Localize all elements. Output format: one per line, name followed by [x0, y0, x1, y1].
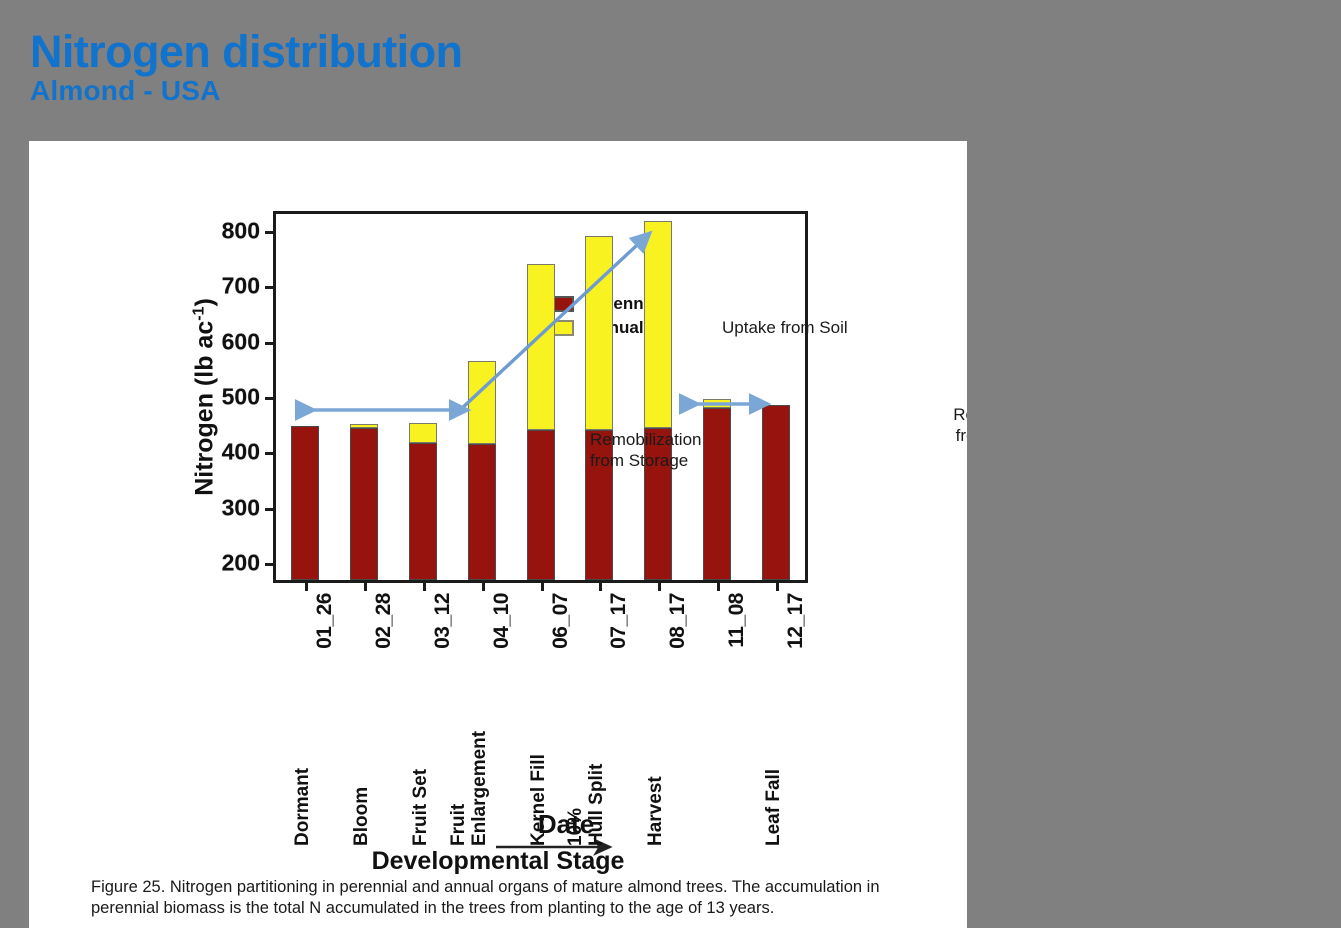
y-axis-tick-label: 800 [222, 217, 260, 244]
annotation-line-3: Storage [945, 446, 967, 467]
y-axis-tick-label: 300 [222, 494, 260, 521]
bar-segment-perennial[interactable] [762, 405, 790, 580]
developmental-stage-label: Leaf Fall [763, 769, 784, 846]
x-axis-tick [482, 580, 485, 591]
x-axis-tick-label: 06_07 [549, 593, 573, 649]
bar-group[interactable] [703, 399, 731, 580]
bar-segment-annual[interactable] [703, 399, 731, 408]
bar-segment-annual[interactable] [468, 361, 496, 444]
bar-segment-annual[interactable] [409, 423, 437, 443]
page-subtitle: Almond - USA [30, 75, 462, 107]
y-axis-tick-label: 500 [222, 384, 260, 411]
x-axis-tick-label: 12_17 [784, 593, 808, 649]
y-axis-title-exponent: -1 [190, 307, 207, 321]
bar-segment-perennial[interactable] [409, 443, 437, 580]
x-axis-tick [423, 580, 426, 591]
annotation-line-2: from Storage [590, 450, 702, 471]
bar-segment-perennial[interactable] [350, 428, 378, 581]
y-axis-tick [265, 508, 276, 511]
bar-segment-annual[interactable] [350, 424, 378, 428]
y-axis-title-main: Nitrogen (lb ac [191, 321, 219, 496]
x-axis-title: Developmental Stage [29, 847, 967, 876]
developmental-stage-label: Harvest [645, 776, 666, 846]
y-axis-tick [265, 397, 276, 400]
bar-segment-perennial[interactable] [703, 408, 731, 580]
bar-group[interactable] [527, 264, 555, 580]
developmental-stage-label: Fruit Set [410, 769, 431, 846]
y-axis-title: Nitrogen (lb ac-1) [190, 298, 219, 496]
annotation-remobilization-from-storage: Remobilization from Storage [590, 429, 702, 471]
bar-group[interactable] [409, 423, 437, 580]
slide-header: Nitrogen distribution Almond - USA [30, 28, 462, 107]
y-axis-tick [265, 342, 276, 345]
bar-segment-annual[interactable] [585, 236, 613, 430]
bar-group[interactable] [291, 426, 319, 580]
x-axis-tick-label: 01_26 [313, 593, 337, 649]
y-axis-tick [265, 563, 276, 566]
developmental-stage-label: Fruit Enlargement [448, 731, 490, 846]
plot-frame: Perennial Annual 200300400500600700800 U… [273, 211, 808, 583]
x-axis-tick [776, 580, 779, 591]
y-axis-tick [265, 452, 276, 455]
x-axis-tick-label: 02_28 [372, 593, 396, 649]
developmental-stage-label: Kernel Fill [528, 754, 549, 846]
developmental-stage-label: Dormant [292, 768, 313, 846]
bar-group[interactable] [644, 221, 672, 580]
bar-segment-annual[interactable] [527, 264, 555, 430]
y-axis-tick-label: 400 [222, 439, 260, 466]
x-axis-tick-label: 07_17 [607, 593, 631, 649]
page-title: Nitrogen distribution [30, 28, 462, 76]
bar-group[interactable] [350, 424, 378, 580]
x-axis-tick [599, 580, 602, 591]
x-axis-tick-label: 08_17 [666, 593, 690, 649]
chart-area: Nitrogen (lb ac-1) Perennial Annual 2003… [29, 141, 967, 661]
x-axis-tick [305, 580, 308, 591]
bar-segment-perennial[interactable] [291, 426, 319, 580]
annotation-line-2: from leaves to [945, 425, 967, 446]
x-axis-tick-label: 11_08 [725, 593, 749, 648]
x-axis-tick [658, 580, 661, 591]
y-axis-tick [265, 286, 276, 289]
annotation-uptake-from-soil: Uptake from Soil [722, 317, 848, 338]
bar-segment-annual[interactable] [644, 221, 672, 428]
x-axis-tick-label: 04_10 [490, 593, 514, 649]
bar-segment-perennial[interactable] [527, 430, 555, 580]
x-axis-tick [717, 580, 720, 591]
bar-segment-perennial[interactable] [468, 444, 496, 580]
figure-panel: Nitrogen (lb ac-1) Perennial Annual 2003… [29, 141, 967, 928]
annotation-line-1: Remobilization [945, 404, 967, 425]
y-axis-title-close: ) [191, 298, 219, 306]
bar-group[interactable] [468, 361, 496, 580]
y-axis-tick [265, 231, 276, 234]
y-axis-tick-label: 200 [222, 550, 260, 577]
figure-caption: Figure 25. Nitrogen partitioning in pere… [91, 877, 949, 919]
developmental-stage-label: 10% Hull Split [565, 764, 607, 846]
bar-group[interactable] [585, 236, 613, 580]
x-axis-tick [364, 580, 367, 591]
developmental-stage-label: Bloom [351, 787, 372, 846]
x-axis-tick-labels: 01_2602_2803_1204_1006_0707_1708_1711_08… [273, 593, 808, 689]
developmental-stage-labels: DormantBloomFruit SetFruit EnlargementKe… [273, 726, 808, 846]
x-axis-tick-label: 03_12 [431, 593, 455, 649]
y-axis-tick-label: 600 [222, 328, 260, 355]
bar-group[interactable] [762, 405, 790, 580]
annotation-remobilization-from-leaves: Remobilization from leaves to Storage [945, 404, 967, 467]
y-axis-tick-label: 700 [222, 273, 260, 300]
x-axis-tick [541, 580, 544, 591]
annotation-line-1: Remobilization [590, 429, 702, 450]
